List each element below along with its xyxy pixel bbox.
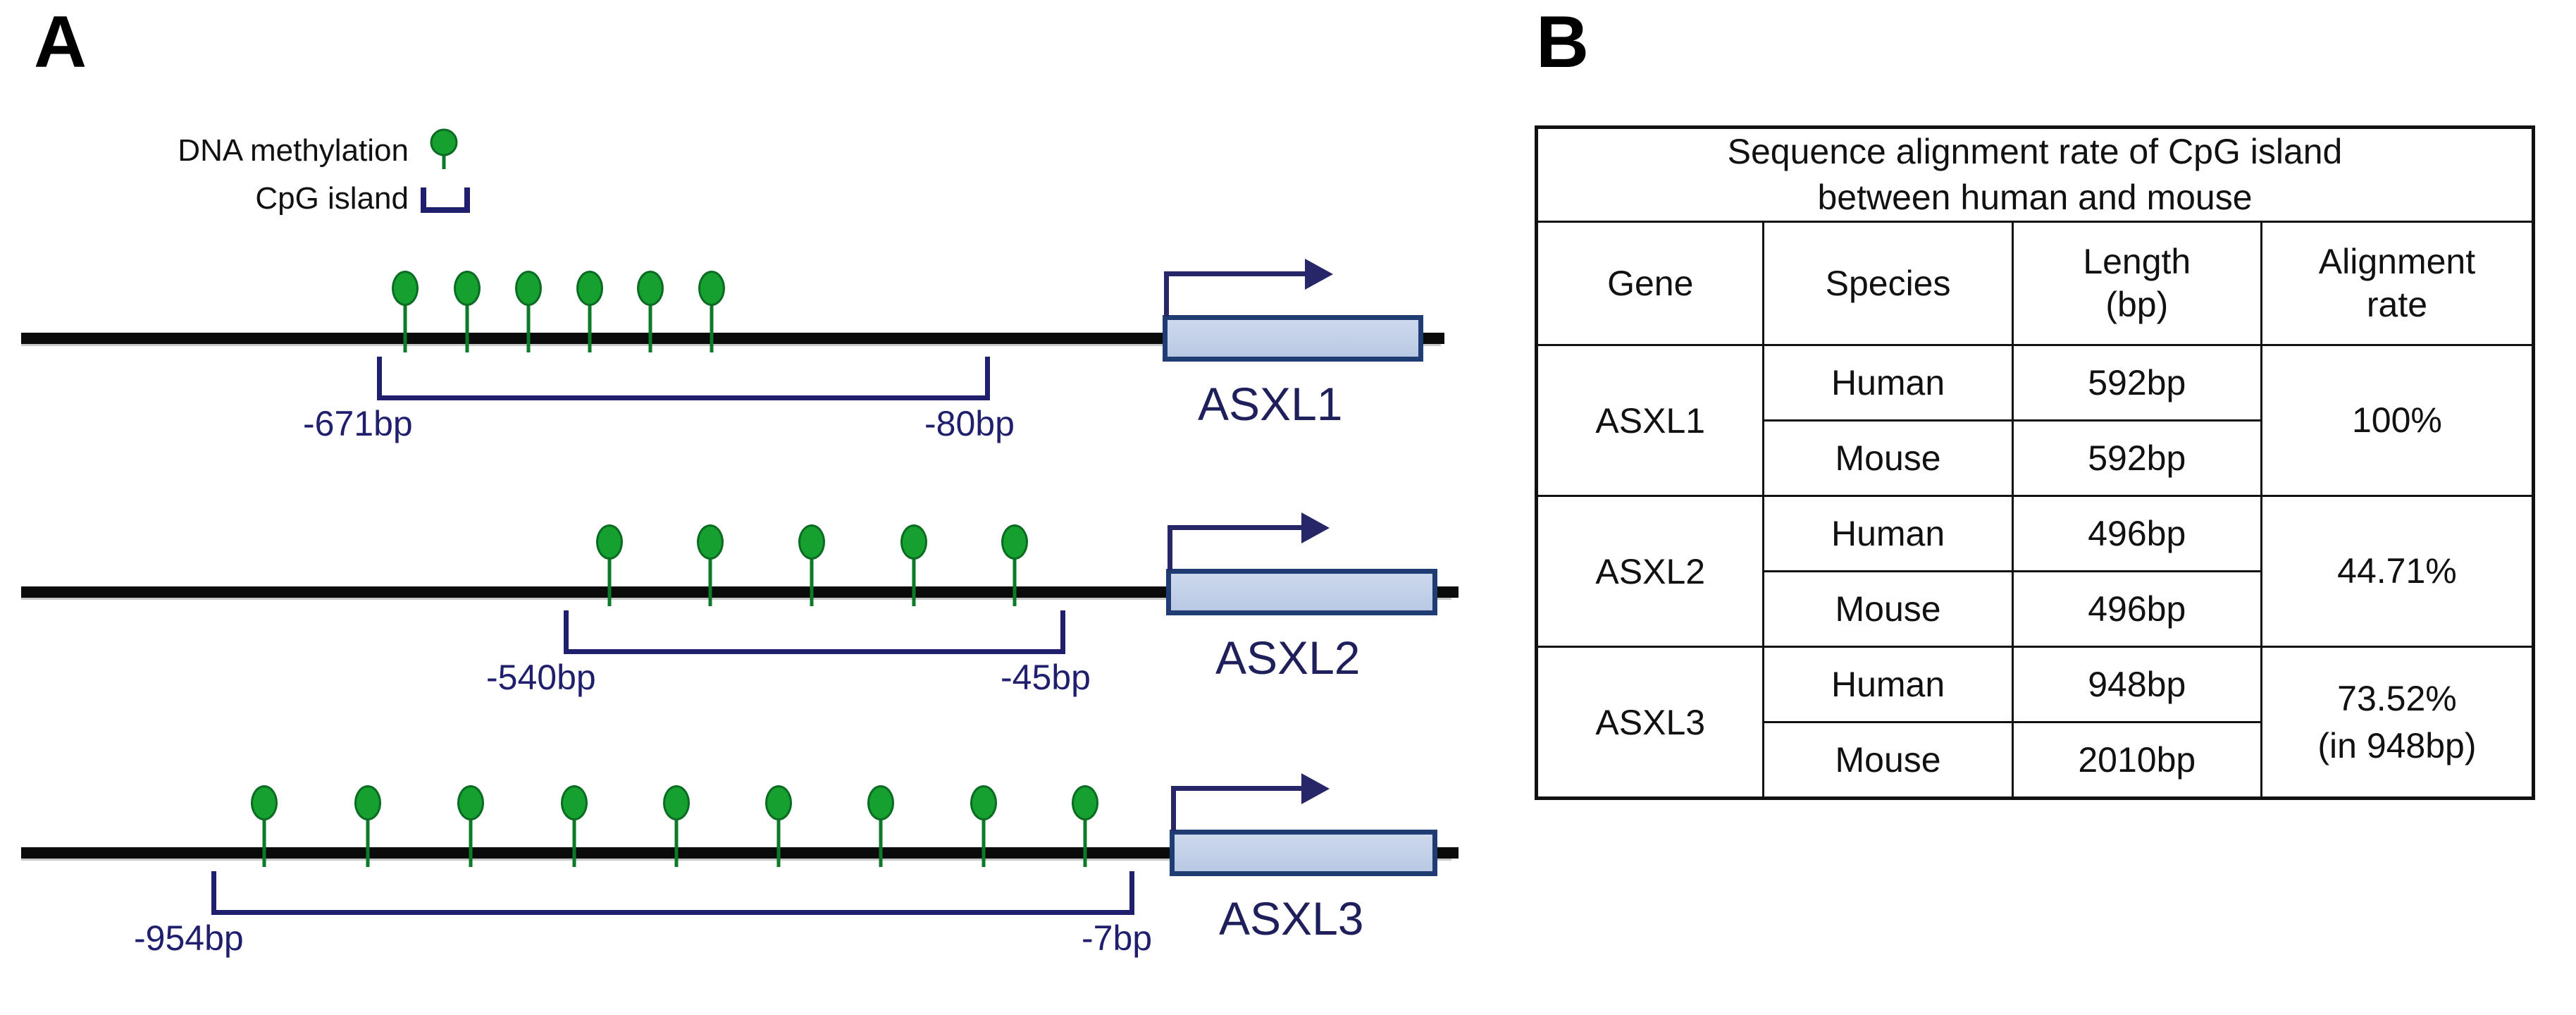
legend-item-dna-methylation: DNA methylation (21, 127, 472, 175)
column-header-rate-line1: Alignment (2319, 242, 2475, 281)
cpg-end-label: -80bp (924, 403, 1015, 444)
column-header-length: Length (bp) (2012, 222, 2261, 345)
column-header-gene: Gene (1537, 222, 1764, 345)
alignment-table-wrapper: Sequence alignment rate of CpG island be… (1535, 125, 2535, 800)
column-header-length-line2: (bp) (2105, 285, 2168, 324)
table-row: ASXL2 Human 496bp 44.71% (1537, 496, 2534, 572)
cpg-start-label: -671bp (303, 403, 413, 444)
cell-length-asxl3-mouse: 2010bp (2012, 722, 2261, 799)
cpg-island-bracket (564, 610, 1065, 654)
legend-item-cpg-island: CpG island (21, 175, 472, 223)
table-row: ASXL3 Human 948bp 73.52% (in 948bp) (1537, 647, 2534, 722)
tss-arrow (1164, 271, 1340, 316)
cell-length-asxl2-human: 496bp (2012, 496, 2261, 572)
gene-track-asxl2: -540bp -45bp ASXL2 (0, 508, 1480, 719)
cell-length-asxl1-mouse: 592bp (2012, 421, 2261, 496)
cell-species-asxl1-human: Human (1764, 345, 2012, 421)
gene-body-box (1170, 830, 1437, 876)
alignment-table: Sequence alignment rate of CpG island be… (1535, 125, 2535, 800)
table-header-row: Gene Species Length (bp) Alignment rate (1537, 222, 2534, 345)
cpg-island-bracket (377, 357, 990, 400)
legend: DNA methylation CpG island (21, 127, 472, 223)
gene-label-asxl2: ASXL2 (1215, 631, 1360, 684)
cell-species-asxl3-human: Human (1764, 647, 2012, 722)
cpg-end-label: -45bp (1001, 657, 1091, 698)
tss-arrow (1171, 786, 1347, 831)
cell-gene-asxl2: ASXL2 (1537, 496, 1764, 647)
gene-label-asxl1: ASXL1 (1198, 377, 1342, 431)
cell-length-asxl3-human: 948bp (2012, 647, 2261, 722)
cpg-island-bracket (211, 871, 1134, 915)
column-header-rate-line2: rate (2367, 285, 2427, 324)
column-header-alignment-rate: Alignment rate (2261, 222, 2533, 345)
gene-track-asxl1: -671bp -80bp ASXL1 (0, 254, 1480, 465)
cpg-island-bracket-icon (420, 185, 471, 214)
cell-rate-asxl3: 73.52% (in 948bp) (2261, 647, 2533, 799)
cell-length-asxl2-mouse: 496bp (2012, 572, 2261, 647)
cell-rate-asxl3-note: (in 948bp) (2317, 726, 2476, 765)
cpg-end-label: -7bp (1082, 918, 1152, 959)
gene-body-box (1166, 569, 1437, 615)
column-header-length-line1: Length (2083, 242, 2191, 281)
column-header-species: Species (1764, 222, 2012, 345)
cpg-start-label: -540bp (486, 657, 596, 698)
figure-root: A DNA methylation CpG island (0, 0, 2576, 1015)
tss-arrow (1168, 525, 1344, 570)
cell-species-asxl1-mouse: Mouse (1764, 421, 2012, 496)
cell-species-asxl2-human: Human (1764, 496, 2012, 572)
gene-label-asxl3: ASXL3 (1219, 892, 1363, 945)
cell-gene-asxl3: ASXL3 (1537, 647, 1764, 799)
gene-track-asxl3: -954bp -7bp ASXL3 (0, 768, 1480, 980)
cell-species-asxl3-mouse: Mouse (1764, 722, 2012, 799)
cell-species-asxl2-mouse: Mouse (1764, 572, 2012, 647)
table-title-line2: between human and mouse (1817, 178, 2252, 217)
panel-b-letter: B (1536, 6, 1588, 79)
cell-length-asxl1-human: 592bp (2012, 345, 2261, 421)
table-title-row: Sequence alignment rate of CpG island be… (1537, 128, 2534, 222)
legend-label-dna-methylation: DNA methylation (178, 133, 409, 168)
legend-label-cpg-island: CpG island (255, 181, 409, 216)
panel-a-letter: A (34, 6, 86, 79)
cell-gene-asxl1: ASXL1 (1537, 345, 1764, 496)
cell-rate-asxl1: 100% (2261, 345, 2533, 496)
table-title-line1: Sequence alignment rate of CpG island (1728, 132, 2343, 171)
methylation-lollipop-icon (423, 125, 465, 172)
gene-body-box (1163, 315, 1423, 362)
cell-rate-asxl2: 44.71% (2261, 496, 2533, 647)
cpg-start-label: -954bp (134, 918, 244, 959)
table-title: Sequence alignment rate of CpG island be… (1537, 128, 2534, 222)
cell-rate-asxl3-value: 73.52% (2337, 679, 2457, 718)
table-row: ASXL1 Human 592bp 100% (1537, 345, 2534, 421)
